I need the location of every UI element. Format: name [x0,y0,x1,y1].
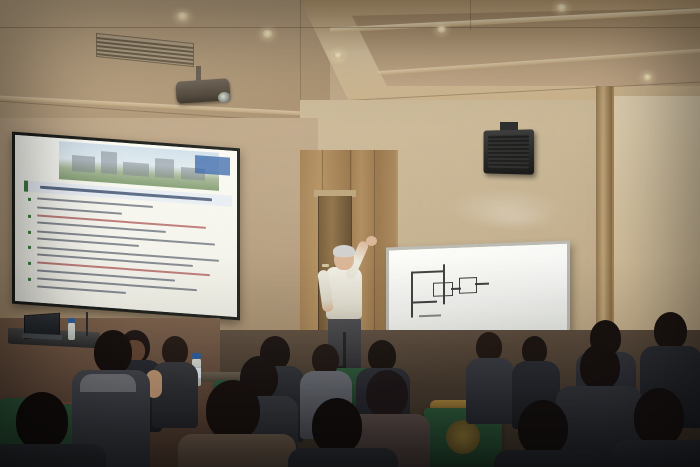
downlight [333,52,343,59]
screen-surface: 工程与工程项目设计及其发展趋势 一、建筑给排水工程的发展历程 二、建筑给排水设计… [15,135,237,317]
slide-logo-icon [195,155,231,176]
speaker-grille-icon [488,135,529,169]
downlight [176,12,189,21]
audience-member-foreground [494,400,598,467]
presenter-hand [366,236,377,246]
audience-member-foreground [178,380,290,467]
downlight [556,4,567,12]
bottle-cap [68,318,75,323]
downlight [262,30,273,38]
ceiling-seam [470,0,471,30]
presenter-hair [333,245,355,257]
chair-back-medallion [446,420,480,454]
audience-member-foreground [288,398,392,467]
projection-screen: 工程与工程项目设计及其发展趋势 一、建筑给排水工程的发展历程 二、建筑给排水设计… [12,132,240,321]
downlight [437,26,446,33]
downlight [643,74,652,81]
photo-scene: 工程与工程项目设计及其发展趋势 一、建筑给排水工程的发展历程 二、建筑给排水设计… [0,0,700,467]
audience-member-foreground [0,392,100,467]
slide-content: 工程与工程项目设计及其发展趋势 一、建筑给排水工程的发展历程 二、建筑给排水设计… [15,135,237,317]
audience-member-foreground [612,388,700,467]
wall-speaker [484,129,535,174]
wall-highlight [470,206,560,232]
ceiling-seam [0,27,700,28]
